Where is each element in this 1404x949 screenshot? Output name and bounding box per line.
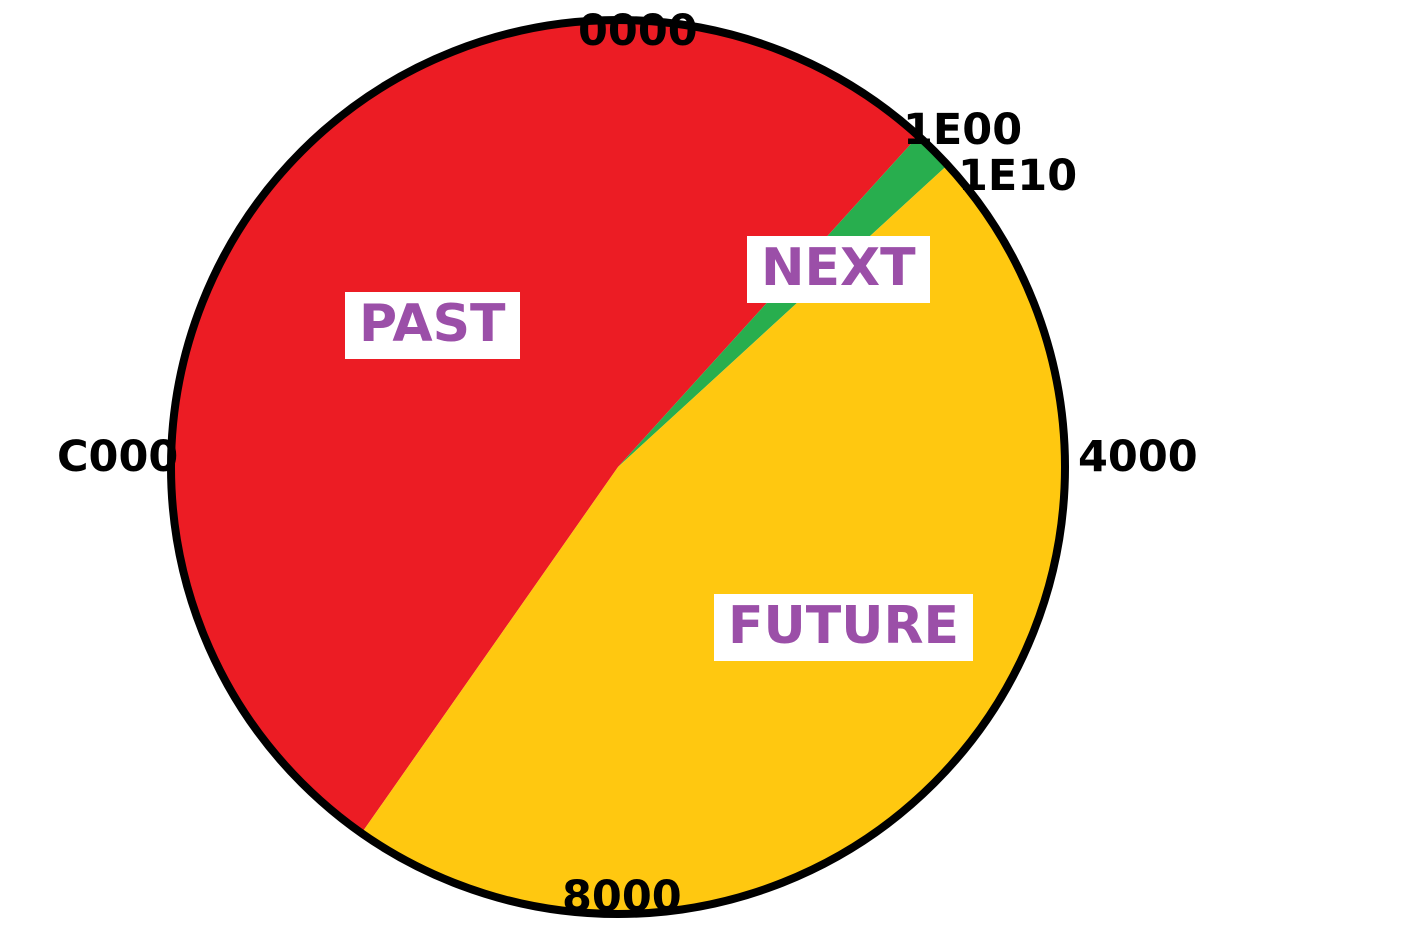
region-label-future: FUTURE: [714, 594, 973, 661]
tick-label-1e10: 1E10: [958, 155, 1077, 198]
tick-label-0000: 0000: [578, 10, 698, 53]
sequence-window-wheel-figure: 0000 1E00 1E10 4000 8000 C000 PAST NEXT …: [0, 0, 1404, 949]
tick-label-4000: 4000: [1078, 436, 1198, 479]
tick-label-8000: 8000: [562, 876, 682, 919]
tick-label-1e00: 1E00: [903, 109, 1022, 152]
tick-label-c000: C000: [57, 436, 178, 479]
region-label-next: NEXT: [747, 236, 930, 303]
region-label-past: PAST: [345, 292, 520, 359]
